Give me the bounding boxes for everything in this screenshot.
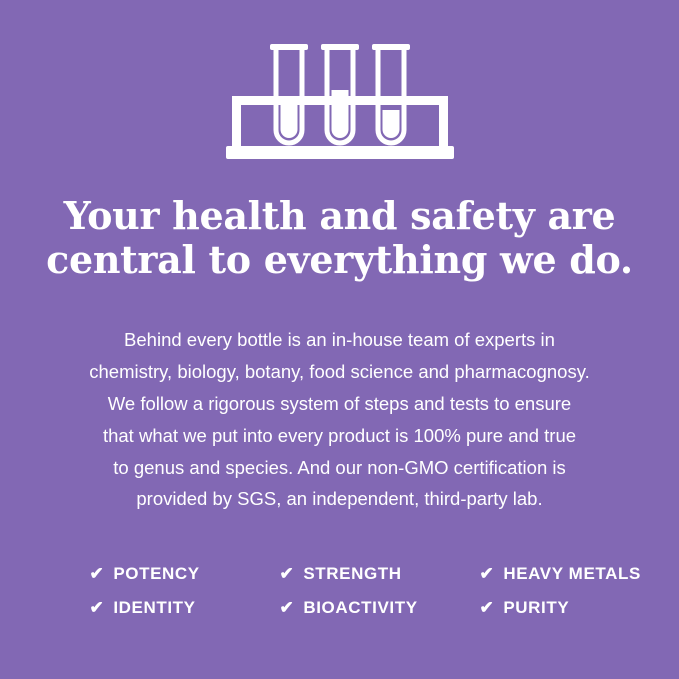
check-icon: ✔ [280, 565, 295, 582]
page-title: Your health and safety are central to ev… [40, 194, 640, 283]
checklist-item: ✔ HEAVY METALS [480, 564, 679, 584]
check-icon: ✔ [480, 565, 495, 582]
check-icon: ✔ [90, 565, 105, 582]
body-line-2: chemistry, biology, botany, food science… [55, 356, 625, 388]
checklist-item-label: PURITY [503, 598, 569, 618]
promo-card: Your health and safety are central to ev… [0, 0, 679, 679]
check-icon: ✔ [480, 599, 495, 616]
headline-line-1: Your health and safety are [40, 194, 640, 238]
body-copy: Behind every bottle is an in-house team … [55, 324, 625, 515]
checklist-item-label: STRENGTH [303, 564, 401, 584]
checklist-item-label: IDENTITY [113, 598, 195, 618]
body-line-4: that what we put into every product is 1… [55, 420, 625, 452]
body-line-1: Behind every bottle is an in-house team … [55, 324, 625, 356]
checklist-item-label: BIOACTIVITY [303, 598, 417, 618]
checklist-item-label: HEAVY METALS [503, 564, 641, 584]
checklist-item: ✔ POTENCY [90, 564, 280, 584]
test-tube-rack-icon [220, 38, 460, 174]
body-line-5: to genus and species. And our non-GMO ce… [55, 452, 625, 484]
headline-line-2: central to everything we do. [40, 238, 640, 282]
quality-checklist: ✔ POTENCY ✔ STRENGTH ✔ HEAVY METALS ✔ ID… [40, 564, 640, 618]
checklist-item: ✔ BIOACTIVITY [280, 598, 480, 618]
body-line-3: We follow a rigorous system of steps and… [55, 388, 625, 420]
body-line-6: provided by SGS, an independent, third-p… [55, 483, 625, 515]
check-icon: ✔ [280, 599, 295, 616]
checklist-item: ✔ IDENTITY [90, 598, 280, 618]
checklist-item: ✔ PURITY [480, 598, 679, 618]
checklist-item-label: POTENCY [113, 564, 199, 584]
check-icon: ✔ [90, 599, 105, 616]
checklist-item: ✔ STRENGTH [280, 564, 480, 584]
